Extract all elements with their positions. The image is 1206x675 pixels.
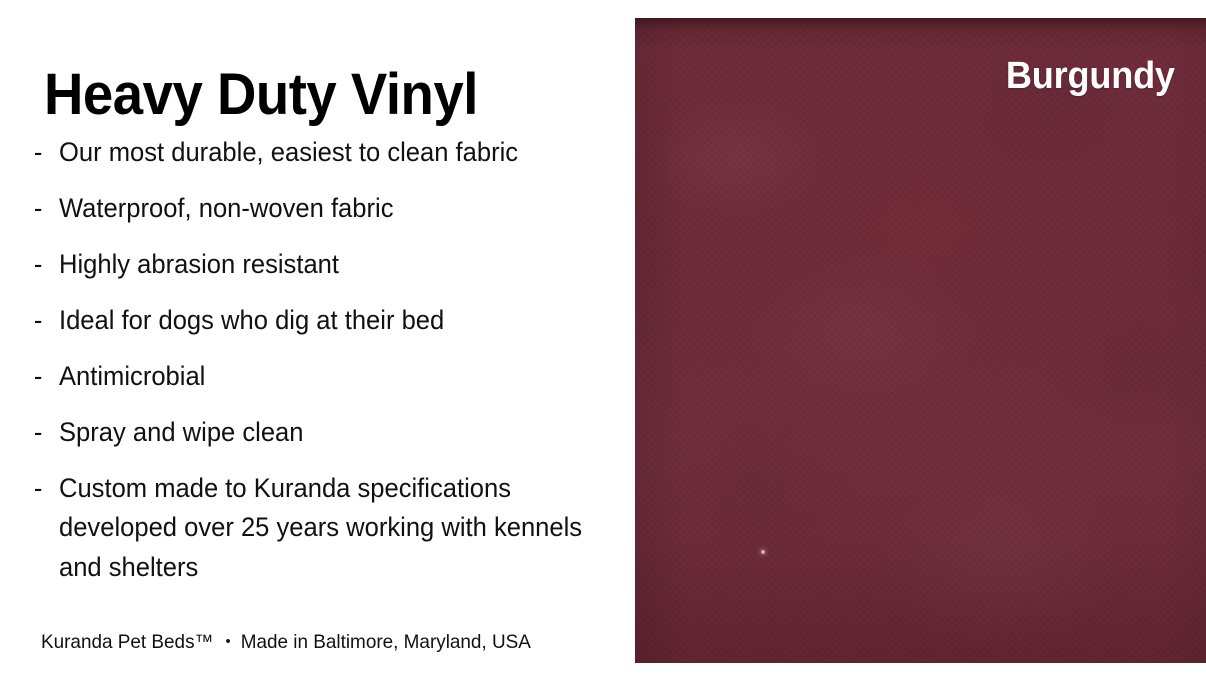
list-item: - Waterproof, non-woven fabric [31, 189, 610, 228]
product-info-column: Heavy Duty Vinyl - Our most durable, eas… [0, 0, 635, 675]
list-item-label: Our most durable, easiest to clean fabri… [59, 133, 610, 172]
list-item-label: Spray and wipe clean [59, 413, 610, 452]
feature-list: - Our most durable, easiest to clean fab… [31, 133, 631, 604]
list-item: - Custom made to Kuranda specifications … [31, 469, 610, 587]
list-item-label: Ideal for dogs who dig at their bed [59, 301, 610, 340]
origin-statement: Made in Baltimore, Maryland, USA [241, 631, 531, 653]
list-item-label: Antimicrobial [59, 357, 610, 396]
list-item: - Antimicrobial [31, 357, 610, 396]
list-item-label: Highly abrasion resistant [59, 245, 610, 284]
footer: Kuranda Pet Beds™ • Made in Baltimore, M… [41, 631, 531, 654]
list-item-label: Custom made to Kuranda specifications de… [59, 469, 610, 587]
bullet-dash-icon: - [34, 301, 43, 340]
list-item: - Ideal for dogs who dig at their bed [31, 301, 610, 340]
list-item: - Spray and wipe clean [31, 413, 610, 452]
fabric-vignette [635, 18, 1206, 663]
fabric-swatch: Burgundy [635, 18, 1206, 663]
bullet-dash-icon: - [34, 357, 43, 396]
fabric-fleck [761, 550, 765, 554]
list-item: - Our most durable, easiest to clean fab… [31, 133, 610, 172]
bullet-dash-icon: - [34, 469, 43, 508]
brand-name: Kuranda Pet Beds™ [41, 631, 213, 653]
product-slide: Heavy Duty Vinyl - Our most durable, eas… [0, 0, 1206, 675]
bullet-dash-icon: - [34, 189, 43, 228]
color-name-label: Burgundy [1006, 56, 1175, 98]
bullet-separator-icon: • [219, 633, 236, 651]
list-item: - Highly abrasion resistant [31, 245, 610, 284]
bullet-dash-icon: - [34, 413, 43, 452]
bullet-dash-icon: - [34, 133, 43, 172]
list-item-label: Waterproof, non-woven fabric [59, 189, 610, 228]
bullet-dash-icon: - [34, 245, 43, 284]
page-title: Heavy Duty Vinyl [44, 66, 478, 124]
